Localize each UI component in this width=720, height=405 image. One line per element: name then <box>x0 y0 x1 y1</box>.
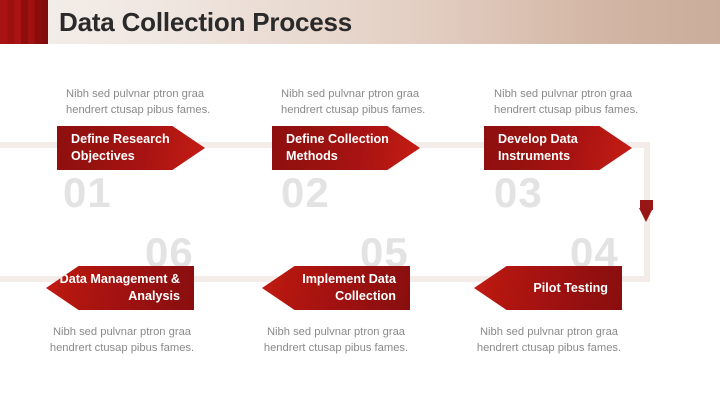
stage-label-06: Data Management & Analysis <box>46 271 180 304</box>
stage-description-05: Nibh sed pulvnar ptron graa hendrert ctu… <box>241 325 431 357</box>
stage-description-03: Nibh sed pulvnar ptron graa hendrert ctu… <box>494 87 684 119</box>
page-title: Data Collection Process <box>59 7 352 38</box>
header-stripe-accent <box>0 0 48 44</box>
stage-number-02: 02 <box>281 172 330 214</box>
stage-number-03: 03 <box>494 172 543 214</box>
stage-chevron-01[interactable]: Define Research Objectives <box>57 126 205 170</box>
stage-label-04: Pilot Testing <box>533 280 608 297</box>
stage-description-04: Nibh sed pulvnar ptron graa hendrert ctu… <box>454 325 644 357</box>
stage-description-02: Nibh sed pulvnar ptron graa hendrert ctu… <box>281 87 471 119</box>
stage-description-06: Nibh sed pulvnar ptron graa hendrert ctu… <box>27 325 217 357</box>
stage-chevron-05[interactable]: Implement Data Collection <box>262 266 410 310</box>
stage-chevron-06[interactable]: Data Management & Analysis <box>46 266 194 310</box>
stage-description-01: Nibh sed pulvnar ptron graa hendrert ctu… <box>66 87 256 119</box>
stage-label-02: Define Collection Methods <box>286 131 420 164</box>
stage-number-01: 01 <box>63 172 112 214</box>
stage-label-01: Define Research Objectives <box>71 131 205 164</box>
flow-direction-arrow-icon <box>639 208 653 222</box>
stage-chevron-02[interactable]: Define Collection Methods <box>272 126 420 170</box>
stage-chevron-03[interactable]: Develop Data Instruments <box>484 126 632 170</box>
slide-header: Data Collection Process <box>0 0 720 44</box>
stage-label-05: Implement Data Collection <box>262 271 396 304</box>
stage-chevron-04[interactable]: Pilot Testing <box>474 266 622 310</box>
stage-label-03: Develop Data Instruments <box>498 131 632 164</box>
